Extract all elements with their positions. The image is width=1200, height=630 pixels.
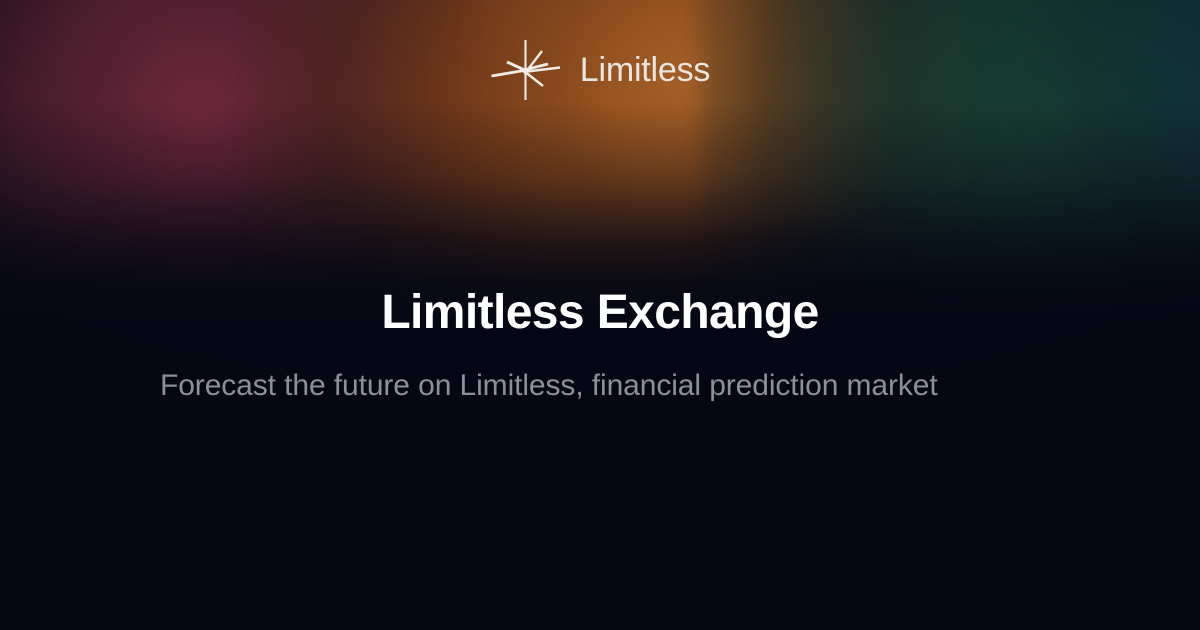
card-content: Limitless Limitless Exchange Forecast th…	[0, 0, 1200, 630]
hero-text-block: Limitless Exchange Forecast the future o…	[160, 286, 1040, 406]
page-subtitle: Forecast the future on Limitless, financ…	[160, 366, 1020, 406]
brand-wordmark: Limitless	[580, 53, 710, 87]
brand-lockup: Limitless	[0, 38, 1200, 102]
starburst-icon	[490, 38, 562, 102]
page-title: Limitless Exchange	[160, 286, 1040, 340]
